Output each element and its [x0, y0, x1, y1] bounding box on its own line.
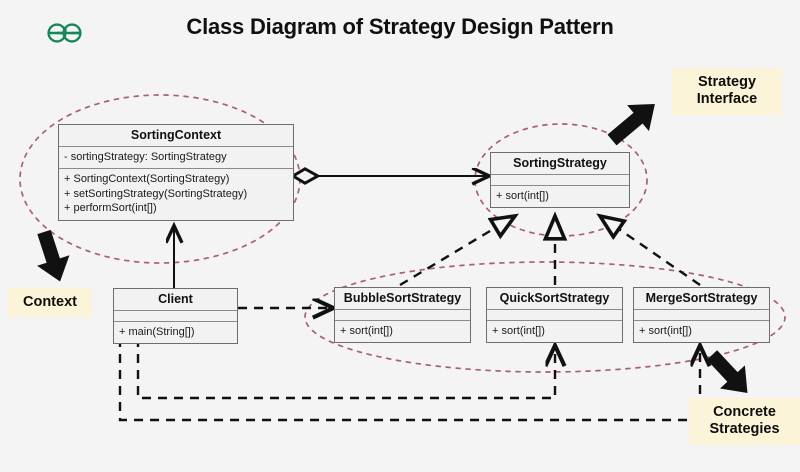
diagram-canvas: Class Diagram of Strategy Design Pattern: [0, 0, 800, 472]
callout-line-1: Concrete: [697, 404, 792, 421]
callout-arrow-strategy-interface: [601, 91, 666, 153]
callout-line-1: Strategy: [680, 74, 774, 91]
callout-strategy-interface: Strategy Interface: [672, 68, 782, 115]
callout-line-2: Interface: [680, 91, 774, 108]
callout-line-2: Strategies: [697, 421, 792, 438]
callout-concrete-strategies: Concrete Strategies: [689, 398, 800, 445]
callout-context: Context: [8, 288, 92, 317]
callout-arrow-context: [28, 227, 76, 287]
callout-arrow-concrete-strategies: [700, 343, 760, 404]
callout-line-1: Context: [16, 294, 84, 311]
page-title: Class Diagram of Strategy Design Pattern: [0, 14, 800, 40]
